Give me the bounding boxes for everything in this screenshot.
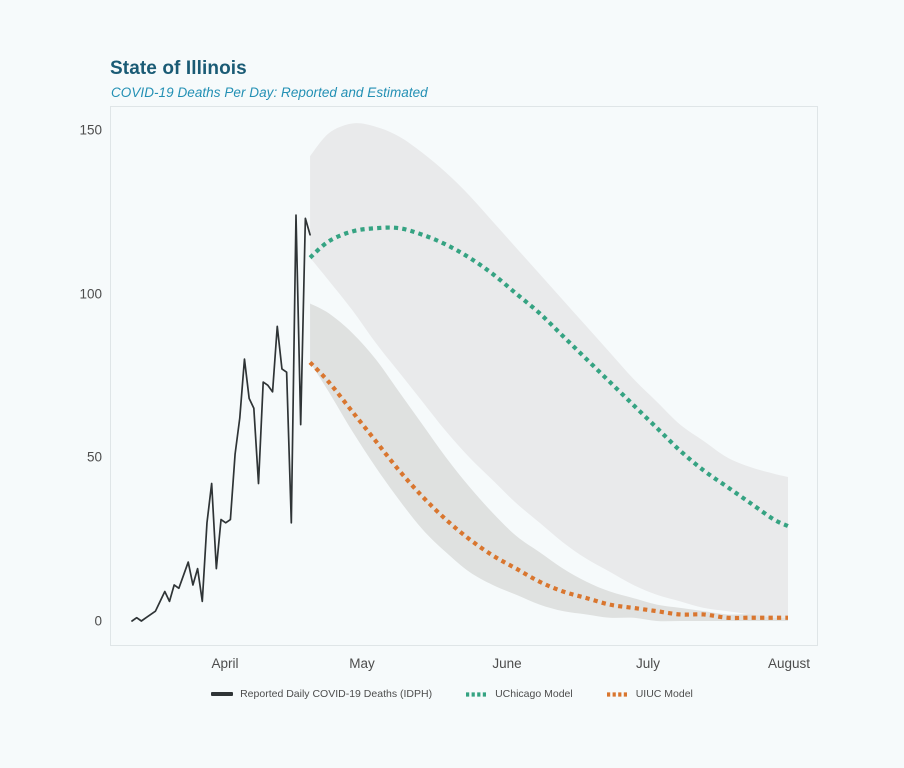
legend-item[interactable]: Reported Daily COVID-19 Deaths (IDPH)	[211, 688, 432, 700]
y-axis-tick-label: 100	[56, 286, 102, 301]
x-axis-tick-label: June	[492, 656, 521, 671]
page-subtitle: COVID-19 Deaths Per Day: Reported and Es…	[111, 85, 428, 100]
y-axis-tick-label: 150	[56, 123, 102, 138]
legend-swatch-dotted-icon	[466, 692, 488, 696]
y-axis-tick-label: 50	[56, 450, 102, 465]
x-axis-tick-label: May	[349, 656, 375, 671]
x-axis-tick-label: July	[636, 656, 660, 671]
legend-item[interactable]: UIUC Model	[607, 688, 693, 700]
legend-item-label: UChicago Model	[495, 688, 573, 700]
y-axis-tick-label: 0	[56, 614, 102, 629]
x-axis-tick-label: April	[211, 656, 238, 671]
chart-legend: Reported Daily COVID-19 Deaths (IDPH)UCh…	[0, 688, 904, 700]
legend-item[interactable]: UChicago Model	[466, 688, 573, 700]
plot-frame	[110, 106, 818, 646]
legend-swatch-solid-icon	[211, 692, 233, 696]
page-title: State of Illinois	[110, 58, 247, 80]
legend-swatch-dotted-icon	[607, 692, 629, 696]
y-axis: 050100150	[46, 0, 102, 768]
legend-item-label: UIUC Model	[636, 688, 693, 700]
legend-item-label: Reported Daily COVID-19 Deaths (IDPH)	[240, 688, 432, 700]
chart-page: State of Illinois COVID-19 Deaths Per Da…	[0, 0, 904, 768]
x-axis-tick-label: August	[768, 656, 810, 671]
